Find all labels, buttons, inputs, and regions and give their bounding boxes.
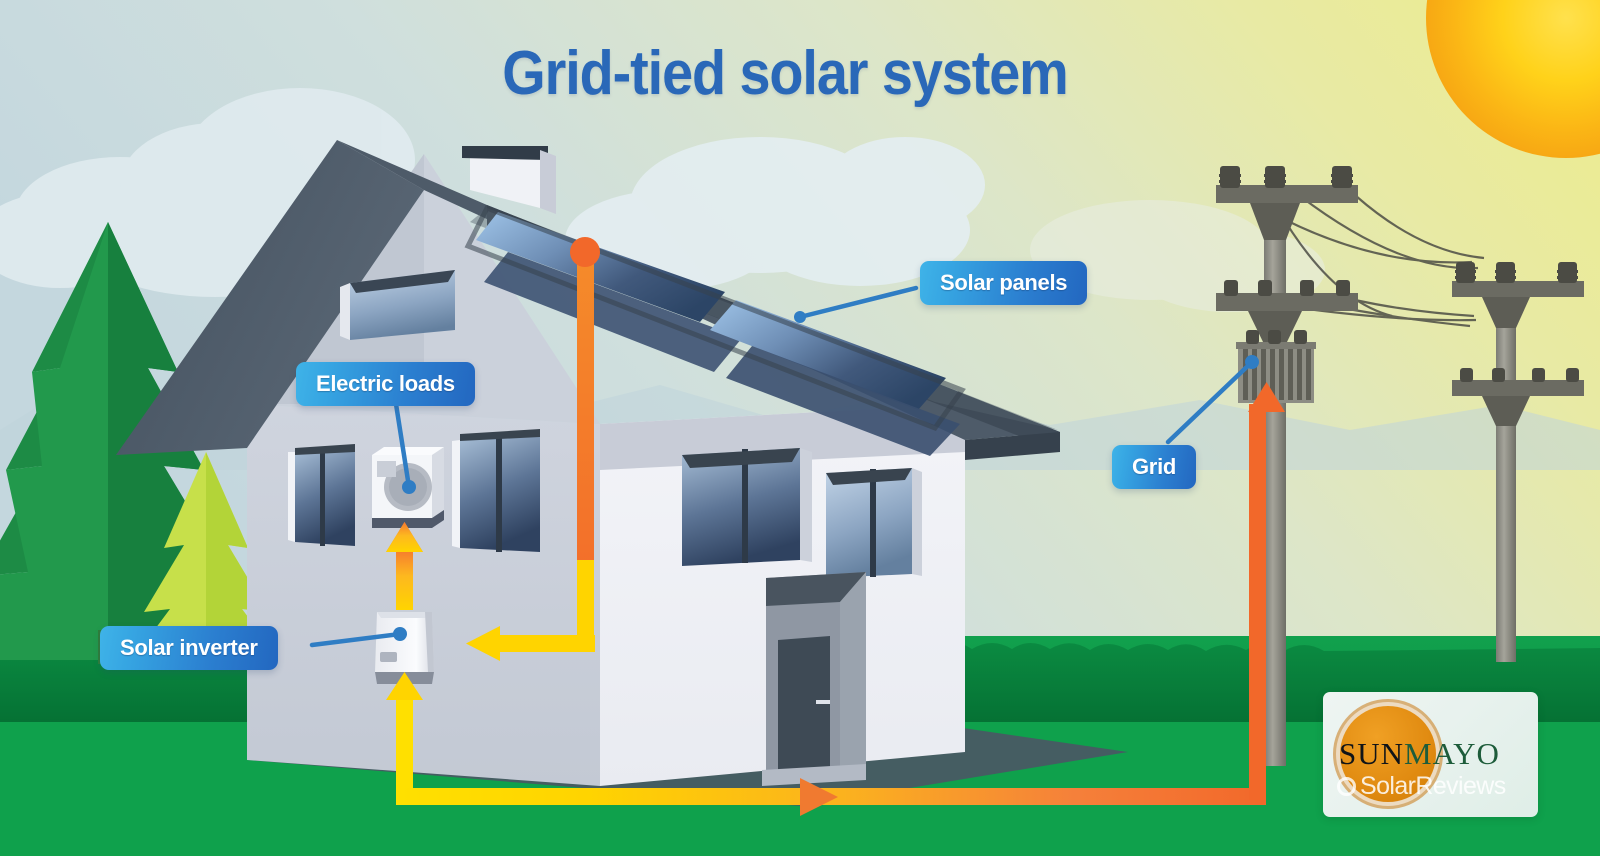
inverter-display (380, 652, 397, 662)
pole-crossarm-lower (1216, 293, 1358, 311)
watermark-circle-icon (1337, 777, 1356, 796)
label-solar-inverter-text: Solar inverter (120, 635, 258, 661)
label-electric-loads[interactable]: Electric loads (296, 362, 475, 406)
label-electric-loads-text: Electric loads (316, 371, 455, 397)
label-solar-panels[interactable]: Solar panels (920, 261, 1087, 305)
logo-word-part1: SUN (1339, 736, 1404, 771)
flow-origin-dot (570, 237, 600, 267)
label-solar-panels-text: Solar panels (940, 270, 1067, 296)
label-solar-inverter[interactable]: Solar inverter (100, 626, 278, 670)
label-grid[interactable]: Grid (1112, 445, 1196, 489)
front-window-right (826, 468, 922, 578)
side-window-left (288, 444, 355, 546)
logo-wordmark: SUNMAYO (1339, 736, 1529, 772)
infographic-canvas: Grid-tied solar system Solar panels Elec… (0, 0, 1600, 856)
label-grid-text: Grid (1132, 454, 1176, 480)
solarreviews-watermark: SolarReviews (1337, 772, 1537, 801)
logo-word-part2: MAYO (1404, 736, 1500, 771)
watermark-text: SolarReviews (1360, 772, 1506, 801)
door-handle (816, 700, 830, 704)
front-window-left (682, 448, 812, 566)
logo-card[interactable]: SUNMAYO SolarReviews (1323, 692, 1538, 817)
front-door-entry (762, 572, 866, 786)
side-window-right (452, 429, 540, 552)
